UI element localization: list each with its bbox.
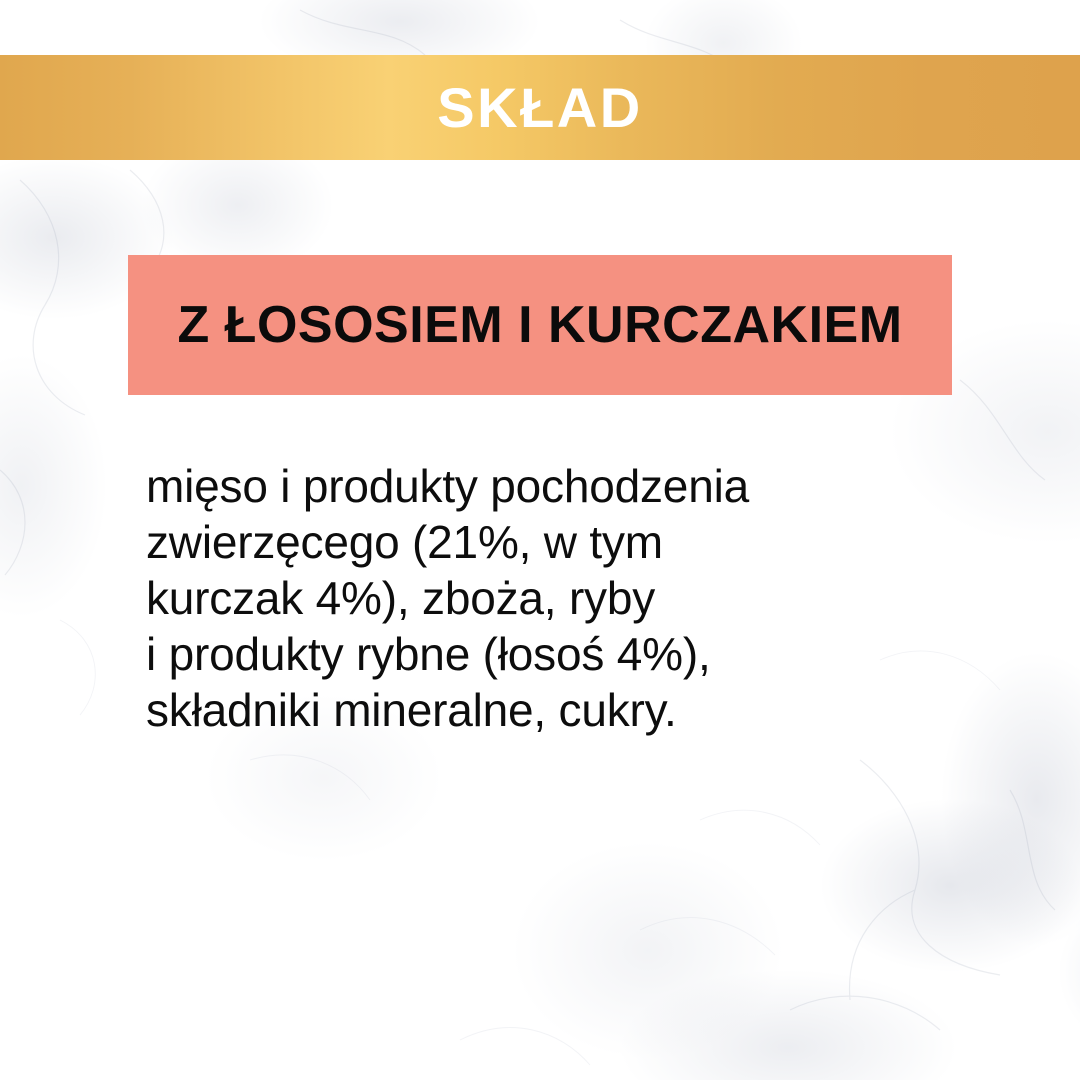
ingredients-line: i produkty rybne (łosoś 4%), (146, 626, 1006, 682)
page-title: SKŁAD (437, 80, 642, 136)
ingredients-line: kurczak 4%), zboża, ryby (146, 570, 1006, 626)
product-flavour-banner: Z ŁOSOSIEM I KURCZAKIEM (128, 255, 952, 395)
ingredients-text-block: mięso i produkty pochodzenia zwierzęcego… (146, 458, 1006, 738)
ingredients-line: mięso i produkty pochodzenia (146, 458, 1006, 514)
ingredients-line: zwierzęcego (21%, w tym (146, 514, 1006, 570)
product-flavour-title: Z ŁOSOSIEM I KURCZAKIEM (177, 299, 902, 351)
header-band: SKŁAD (0, 55, 1080, 160)
ingredients-slide: SKŁAD Z ŁOSOSIEM I KURCZAKIEM mięso i pr… (0, 0, 1080, 1080)
ingredients-line: składniki mineralne, cukry. (146, 682, 1006, 738)
